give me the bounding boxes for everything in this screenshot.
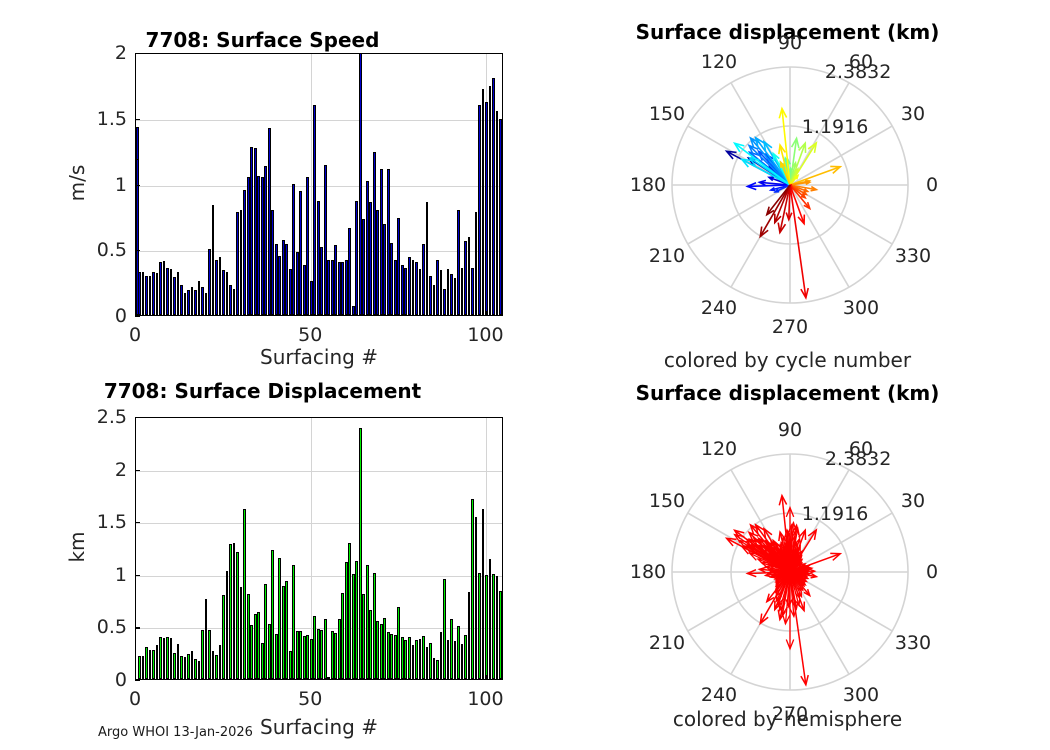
bar <box>285 581 288 679</box>
polar-angle-label: 270 <box>772 316 808 338</box>
bar <box>327 677 330 679</box>
bar <box>387 632 390 679</box>
bar <box>485 102 488 315</box>
polar-angle-label: 120 <box>701 438 737 460</box>
bar <box>422 636 425 679</box>
bar <box>415 640 418 679</box>
bar <box>457 626 460 679</box>
bar <box>482 89 485 315</box>
bar <box>345 562 348 679</box>
bar <box>376 210 379 315</box>
bar <box>296 631 299 679</box>
x-tick-mark <box>135 311 136 316</box>
bar <box>475 212 478 315</box>
bar <box>376 621 379 679</box>
x-tick-mark <box>135 675 136 680</box>
bar <box>254 614 257 679</box>
bar <box>443 579 446 679</box>
bar <box>240 210 243 315</box>
bar <box>250 147 253 315</box>
bar <box>397 218 400 315</box>
bar <box>341 262 344 315</box>
bar <box>247 177 250 315</box>
polar-angle-label: 180 <box>630 174 666 196</box>
bar <box>215 655 218 679</box>
y-tick-mark <box>135 627 140 628</box>
gridline-vertical <box>311 54 312 315</box>
gridline-horizontal <box>136 523 502 524</box>
bar <box>331 631 334 679</box>
bar <box>436 660 439 679</box>
bar <box>390 634 393 679</box>
bar <box>447 640 450 679</box>
bar <box>191 287 194 315</box>
bar <box>208 249 211 315</box>
polar-radial-label: 1.1916 <box>802 116 868 138</box>
bar <box>177 272 180 315</box>
x-tick-label: 100 <box>467 688 503 710</box>
y-tick-mark <box>135 522 140 523</box>
bar <box>478 105 481 315</box>
displacement-y-axis-label: km <box>65 487 89 607</box>
bar <box>457 210 460 315</box>
bar <box>397 607 400 679</box>
bar <box>282 240 285 315</box>
bar <box>271 550 274 679</box>
bar <box>401 265 404 315</box>
bar <box>149 276 152 315</box>
bar <box>373 152 376 315</box>
bar <box>212 205 215 315</box>
y-tick-mark <box>135 417 140 418</box>
bar <box>142 656 145 679</box>
bar <box>419 639 422 679</box>
argo-float-summary-figure: 7708: Surface Speed 00.511.52 050100 Sur… <box>0 0 1050 750</box>
bar <box>254 148 257 315</box>
polar-angle-label: 330 <box>895 245 931 267</box>
panel-polar-cycle-number: Surface displacement (km) 03060901201501… <box>525 0 1050 375</box>
bar <box>380 624 383 679</box>
bar <box>419 269 422 315</box>
bar <box>387 169 390 315</box>
polar-angle-label: 90 <box>778 32 802 54</box>
bar <box>205 293 208 315</box>
bar <box>149 650 152 679</box>
bar <box>404 640 407 679</box>
bar <box>394 635 397 679</box>
bar <box>177 644 180 679</box>
gridline-horizontal <box>136 471 502 472</box>
bar <box>275 244 278 315</box>
bar <box>296 252 299 315</box>
polar-hemisphere-caption: colored by hemisphere <box>525 707 1050 731</box>
bar <box>187 290 190 315</box>
y-tick-label: 2 <box>65 459 127 481</box>
bar <box>226 272 229 315</box>
bar <box>482 509 485 679</box>
bar <box>163 261 166 315</box>
bar <box>324 619 327 679</box>
bar <box>359 53 362 315</box>
polar-angle-label: 210 <box>649 245 685 267</box>
bar <box>264 166 267 315</box>
bar <box>233 289 236 315</box>
gridline-horizontal <box>136 120 502 121</box>
bar <box>352 306 355 315</box>
figure-footer: Argo WHOI 13-Jan-2026 <box>98 725 253 740</box>
y-tick-mark <box>135 316 140 317</box>
bar <box>450 619 453 679</box>
bar <box>489 86 492 315</box>
bar <box>310 639 313 679</box>
bar <box>268 128 271 315</box>
bar <box>159 262 162 315</box>
bar <box>415 262 418 315</box>
gridline-horizontal <box>136 576 502 577</box>
bar <box>320 630 323 679</box>
bar <box>331 260 334 315</box>
bar <box>443 289 446 315</box>
bar <box>313 616 316 679</box>
arrow-head <box>760 227 768 237</box>
bar <box>191 651 194 679</box>
bar <box>198 281 201 315</box>
bar <box>303 636 306 679</box>
bar <box>219 645 222 679</box>
bar <box>345 260 348 315</box>
y-tick-mark <box>135 250 140 251</box>
speed-y-axis-label: m/s <box>65 123 89 243</box>
bar <box>348 228 351 315</box>
bar <box>257 612 260 679</box>
polar-angle-label: 0 <box>926 561 938 583</box>
y-tick-mark <box>135 680 140 681</box>
bar <box>170 638 173 679</box>
y-tick-label: 0 <box>65 305 127 327</box>
bar <box>362 594 365 679</box>
bar <box>159 637 162 679</box>
bar <box>219 257 222 315</box>
bar <box>334 245 337 315</box>
x-tick-label: 50 <box>298 688 322 710</box>
bar <box>222 270 225 315</box>
bar <box>250 625 253 679</box>
panel-polar-hemisphere: Surface displacement (km) 03060901201501… <box>525 375 1050 750</box>
polar-angle-label: 330 <box>895 632 931 654</box>
bar <box>136 159 139 315</box>
polar-hemisphere-plot <box>525 397 1050 727</box>
bar <box>475 517 478 679</box>
bar <box>366 565 369 679</box>
bar <box>317 201 320 315</box>
y-tick-label: 2 <box>65 42 127 64</box>
bar <box>471 268 474 315</box>
bar <box>454 278 457 315</box>
bar <box>454 641 457 679</box>
bar <box>492 574 495 679</box>
bar <box>292 565 295 679</box>
polar-angle-label: 210 <box>649 632 685 654</box>
bar <box>429 643 432 679</box>
y-tick-mark <box>135 185 140 186</box>
bar <box>383 224 386 315</box>
bar <box>310 281 313 315</box>
bar <box>401 637 404 679</box>
bar <box>264 584 267 679</box>
bar <box>412 645 415 679</box>
polar-radial-label: 1.1916 <box>802 503 868 525</box>
bar <box>464 635 467 679</box>
bar <box>461 268 464 315</box>
panel-surface-displacement: 7708: Surface Displacement 00.511.522.5 … <box>0 370 525 750</box>
bar <box>285 244 288 315</box>
bar <box>450 274 453 315</box>
y-tick-label: 2.5 <box>65 406 127 428</box>
bar <box>355 561 358 679</box>
bar <box>426 202 429 315</box>
bar <box>212 651 215 679</box>
bar <box>461 644 464 679</box>
bar <box>338 619 341 679</box>
bar <box>341 593 344 679</box>
bar <box>215 260 218 315</box>
bar <box>145 276 148 315</box>
y-tick-label: 0 <box>65 669 127 691</box>
bar <box>355 201 358 315</box>
bar <box>170 269 173 315</box>
bar <box>429 276 432 315</box>
bar <box>243 509 246 679</box>
bar <box>436 260 439 315</box>
bar <box>408 637 411 679</box>
bar <box>433 658 436 679</box>
polar-radial-label: 2.3832 <box>825 61 891 83</box>
bar <box>243 190 246 315</box>
bar <box>289 269 292 315</box>
y-tick-mark <box>135 53 140 54</box>
speed-plot-area <box>135 53 503 316</box>
bar <box>278 558 281 679</box>
bar <box>208 630 211 679</box>
bar <box>447 269 450 315</box>
x-tick-label: 50 <box>298 324 322 346</box>
bar <box>166 637 169 679</box>
polar-angle-label: 150 <box>649 103 685 125</box>
bar <box>289 651 292 679</box>
bar <box>338 262 341 315</box>
displacement-chart-title: 7708: Surface Displacement <box>0 379 525 403</box>
bar <box>426 647 429 679</box>
bar <box>485 575 488 679</box>
bar <box>152 272 155 315</box>
bar <box>257 176 260 315</box>
polar-angle-label: 120 <box>701 51 737 73</box>
bar <box>383 618 386 679</box>
bar <box>313 105 316 315</box>
polar-angle-label: 30 <box>901 103 925 125</box>
bar <box>404 268 407 315</box>
speed-x-axis-label: Surfacing # <box>135 345 503 369</box>
bar <box>205 599 208 679</box>
bar <box>275 634 278 679</box>
bar <box>348 543 351 679</box>
bar <box>201 630 204 679</box>
bar <box>327 260 330 315</box>
bar <box>440 632 443 679</box>
bar <box>201 287 204 315</box>
bar <box>464 241 467 315</box>
bar <box>362 219 365 315</box>
bar <box>226 571 229 679</box>
bar <box>299 191 302 315</box>
bar <box>433 285 436 315</box>
y-tick-mark <box>135 119 140 120</box>
bar <box>268 624 271 679</box>
bar <box>478 573 481 679</box>
bar <box>184 657 187 679</box>
bar <box>278 256 281 315</box>
polar-angle-label: 240 <box>701 684 737 706</box>
bar <box>380 169 383 315</box>
polar-radial-label: 2.3832 <box>825 448 891 470</box>
bar <box>194 659 197 679</box>
bar <box>184 293 187 315</box>
y-tick-mark <box>135 470 140 471</box>
bar <box>468 592 471 679</box>
x-tick-label: 0 <box>129 688 141 710</box>
bar <box>292 184 295 316</box>
bar <box>369 202 372 315</box>
bar <box>247 594 250 679</box>
y-tick-label: 0.5 <box>65 616 127 638</box>
bar <box>496 576 499 679</box>
arrow-head <box>760 614 768 624</box>
bar <box>222 595 225 679</box>
y-tick-mark <box>135 575 140 576</box>
bar <box>390 243 393 315</box>
bar <box>173 653 176 679</box>
bar <box>320 247 323 315</box>
x-tick-label: 0 <box>129 324 141 346</box>
bar <box>180 656 183 679</box>
x-tick-mark <box>485 311 486 316</box>
bar <box>440 270 443 315</box>
bar <box>138 656 141 679</box>
bar <box>366 181 369 315</box>
polar-angle-label: 300 <box>843 684 879 706</box>
bar <box>145 647 148 679</box>
polar-grid-spoke <box>790 185 849 287</box>
polar-angle-label: 240 <box>701 297 737 319</box>
x-tick-mark <box>310 675 311 680</box>
polar-angle-label: 30 <box>901 490 925 512</box>
bar <box>261 643 264 679</box>
bar <box>180 285 183 315</box>
bar <box>187 654 190 679</box>
x-tick-mark <box>310 311 311 316</box>
bar <box>271 210 274 315</box>
bar <box>229 544 232 679</box>
bar <box>198 661 201 679</box>
bar <box>299 631 302 679</box>
bar <box>468 237 471 315</box>
bar <box>499 591 502 679</box>
bar <box>394 260 397 315</box>
polar-cycle-caption: colored by cycle number <box>525 348 1050 372</box>
x-tick-mark <box>485 675 486 680</box>
bar <box>282 586 285 679</box>
bar <box>240 587 243 679</box>
bar <box>236 212 239 315</box>
gridline-horizontal <box>136 186 502 187</box>
bar <box>496 111 499 315</box>
panel-surface-speed: 7708: Surface Speed 00.511.52 050100 Sur… <box>0 0 525 375</box>
bar <box>142 272 145 315</box>
bar <box>156 273 159 315</box>
bar <box>156 645 159 679</box>
bar <box>152 650 155 679</box>
bar <box>163 638 166 679</box>
displacement-plot-area <box>135 417 503 680</box>
polar-angle-label: 0 <box>926 174 938 196</box>
bar <box>173 277 176 315</box>
bar <box>229 285 232 315</box>
bar <box>166 268 169 315</box>
bar <box>317 629 320 679</box>
bar <box>492 78 495 315</box>
bar <box>352 574 355 679</box>
bar <box>499 119 502 315</box>
bar <box>306 635 309 679</box>
bar <box>369 610 372 679</box>
polar-angle-label: 150 <box>649 490 685 512</box>
bar <box>412 260 415 315</box>
bar <box>408 257 411 315</box>
bar <box>471 499 474 679</box>
bar <box>261 177 264 315</box>
bar <box>334 633 337 679</box>
bar <box>306 177 309 315</box>
bar <box>194 290 197 315</box>
bar <box>422 244 425 315</box>
bar <box>303 265 306 315</box>
bar <box>373 573 376 679</box>
bar <box>359 428 362 679</box>
polar-angle-label: 180 <box>630 561 666 583</box>
bar <box>324 165 327 315</box>
bar <box>489 559 492 679</box>
x-tick-label: 100 <box>467 324 503 346</box>
bar <box>236 552 239 679</box>
bar <box>233 543 236 679</box>
polar-angle-label: 90 <box>778 419 802 441</box>
polar-angle-label: 300 <box>843 297 879 319</box>
